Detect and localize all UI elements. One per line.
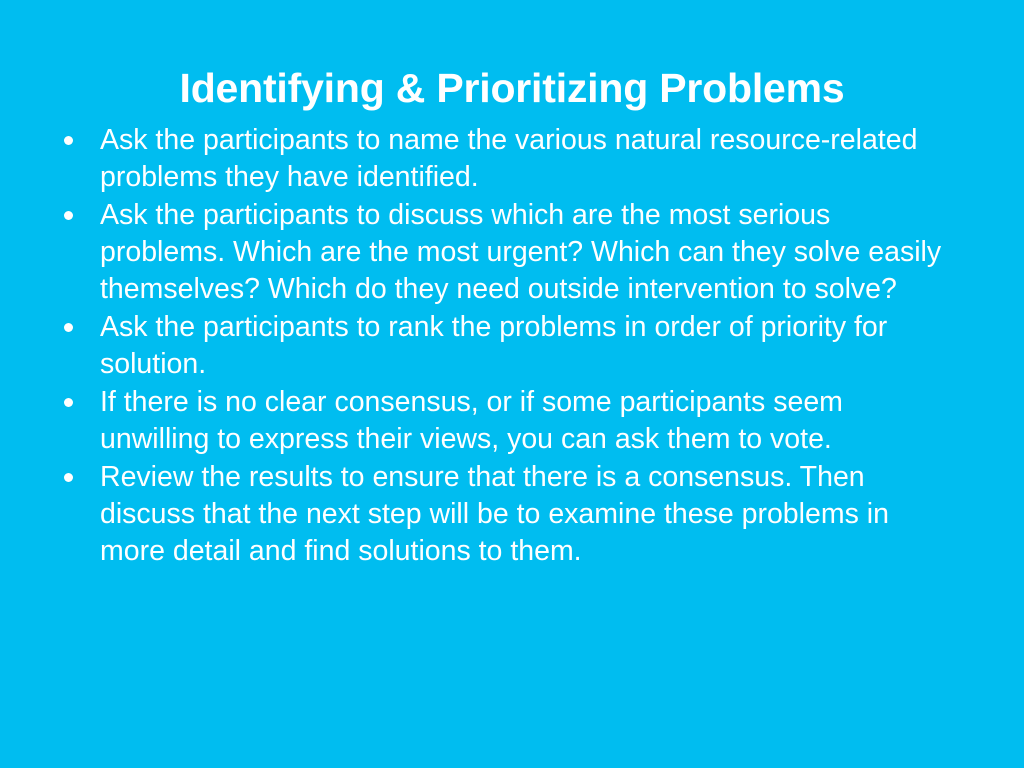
list-item: Ask the participants to rank the problem… — [58, 309, 952, 383]
list-item: Ask the participants to discuss which ar… — [58, 197, 952, 308]
page-title: Identifying & Prioritizing Problems — [0, 63, 1024, 113]
presentation-slide: Identifying & Prioritizing Problems Ask … — [0, 0, 1024, 768]
list-item-text: Ask the participants to rank the problem… — [100, 309, 952, 383]
list-item: Ask the participants to name the various… — [58, 122, 952, 196]
bullet-dot-icon — [64, 323, 73, 332]
list-item-text: If there is no clear consensus, or if so… — [100, 384, 952, 458]
bullet-dot-icon — [64, 211, 73, 220]
slide-body: Ask the participants to name the various… — [58, 122, 958, 571]
list-item-text: Ask the participants to name the various… — [100, 122, 952, 196]
list-item-text: Ask the participants to discuss which ar… — [100, 197, 952, 308]
list-item-text: Review the results to ensure that there … — [100, 459, 952, 570]
bullet-list: Ask the participants to name the various… — [58, 122, 958, 570]
list-item: If there is no clear consensus, or if so… — [58, 384, 952, 458]
bullet-dot-icon — [64, 473, 73, 482]
bullet-dot-icon — [64, 136, 73, 145]
list-item: Review the results to ensure that there … — [58, 459, 952, 570]
bullet-dot-icon — [64, 398, 73, 407]
